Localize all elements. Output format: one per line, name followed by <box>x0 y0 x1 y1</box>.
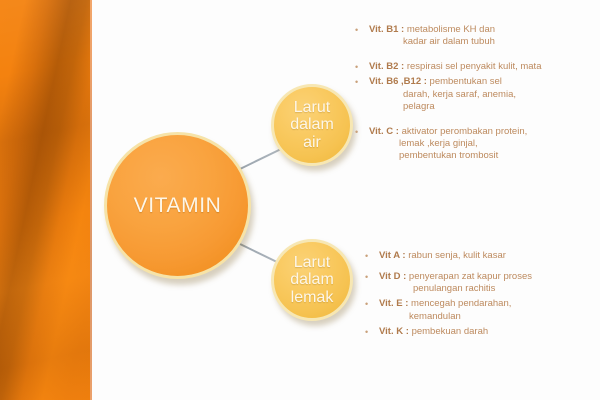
connector-root-to-lemak <box>240 243 280 264</box>
list-item-cont: kemandulan <box>379 311 596 323</box>
branch-air-line-3: air <box>303 134 321 151</box>
spacer <box>352 113 596 126</box>
band-streak-overlay <box>0 0 92 400</box>
list-item-head: Vit. B1 : <box>369 24 404 35</box>
list-item-body: Vit. C : aktivator perombakan protein, l… <box>369 126 596 162</box>
band-right-edge <box>90 0 92 400</box>
fat-soluble-vitamin-list: • Vit A : rabun senja, kulit kasar • Vit… <box>362 250 596 338</box>
bullet-icon: • <box>362 298 379 310</box>
list-item-body: Vit A : rabun senja, kulit kasar <box>379 250 596 262</box>
bullet-icon: • <box>352 24 369 36</box>
bullet-icon: • <box>362 271 379 283</box>
list-item-head: Vit. K : <box>379 326 409 337</box>
bullet-icon: • <box>352 76 369 88</box>
branch-lemak-line-1: Larut <box>294 254 330 271</box>
left-orange-band <box>0 0 92 400</box>
list-item: • Vit A : rabun senja, kulit kasar <box>362 250 596 262</box>
slide-canvas: VITAMIN Larut dalam air Larut dalam lema… <box>0 0 600 400</box>
branch-air-label: Larut dalam air <box>290 99 334 151</box>
bullet-icon: • <box>362 326 379 338</box>
list-item: • Vit. B1 : metabolisme KH dan kadar air… <box>352 24 596 48</box>
bullet-icon: • <box>352 126 369 138</box>
list-item-cont: pelagra <box>369 101 596 113</box>
list-item-body: Vit. K : pembekuan darah <box>379 326 596 338</box>
root-node-vitamin[interactable]: VITAMIN <box>104 132 251 279</box>
spacer <box>352 48 596 61</box>
list-item: • Vit. C : aktivator perombakan protein,… <box>352 126 596 162</box>
branch-lemak-label: Larut dalam lemak <box>290 254 334 306</box>
list-item-head: Vit A : <box>379 250 406 261</box>
list-item-body: Vit. B2 : respirasi sel penyakit kulit, … <box>369 61 596 73</box>
list-item-text: rabun senja, kulit kasar <box>408 250 506 261</box>
list-item-cont: kadar air dalam tubuh <box>369 36 596 48</box>
list-item: • Vit D : penyerapan zat kapur proses pe… <box>362 271 596 295</box>
list-item-cont: pembentukan trombosit <box>369 150 596 162</box>
list-item-head: Vit. B6 ,B12 : <box>369 76 427 87</box>
branch-node-larut-dalam-lemak[interactable]: Larut dalam lemak <box>271 239 353 321</box>
list-item-body: Vit. B1 : metabolisme KH dan kadar air d… <box>369 24 596 48</box>
list-item-body: Vit D : penyerapan zat kapur proses penu… <box>379 271 596 295</box>
list-item: • Vit. K : pembekuan darah <box>362 326 596 338</box>
list-item-text: pembekuan darah <box>412 326 489 337</box>
branch-node-larut-dalam-air[interactable]: Larut dalam air <box>271 84 353 166</box>
list-item: • Vit. B2 : respirasi sel penyakit kulit… <box>352 61 596 73</box>
list-item-body: Vit. E : mencegah pendarahan, kemandulan <box>379 298 596 322</box>
connector-root-to-air <box>240 149 280 170</box>
list-item-text: pembentukan sel <box>430 76 502 87</box>
list-item-cont: darah, kerja saraf, anemia, <box>369 89 596 101</box>
list-item-text: metabolisme KH dan <box>407 24 495 35</box>
branch-air-line-2: dalam <box>290 116 334 133</box>
list-item-head: Vit. E : <box>379 298 408 309</box>
list-item-head: Vit D : <box>379 271 406 282</box>
list-item-cont: lemak ,kerja ginjal, <box>369 138 596 150</box>
branch-air-line-1: Larut <box>294 99 330 116</box>
list-item-body: Vit. B6 ,B12 : pembentukan sel darah, ke… <box>369 76 596 112</box>
list-item-head: Vit. B2 : <box>369 61 404 72</box>
list-item-head: Vit. C : <box>369 126 399 137</box>
list-item-text: mencegah pendarahan, <box>411 298 511 309</box>
list-item-text: penyerapan zat kapur proses <box>409 271 532 282</box>
bullet-icon: • <box>362 250 379 262</box>
list-item-text: aktivator perombakan protein, <box>402 126 528 137</box>
spacer <box>362 262 596 271</box>
list-item: • Vit. E : mencegah pendarahan, kemandul… <box>362 298 596 322</box>
bullet-icon: • <box>352 61 369 73</box>
list-item-cont: penulangan rachitis <box>379 283 596 295</box>
root-node-label: VITAMIN <box>134 194 222 218</box>
list-item-text: respirasi sel penyakit kulit, mata <box>407 61 542 72</box>
branch-lemak-line-3: lemak <box>291 289 334 306</box>
list-item: • Vit. B6 ,B12 : pembentukan sel darah, … <box>352 76 596 112</box>
branch-lemak-line-2: dalam <box>290 271 334 288</box>
water-soluble-vitamin-list: • Vit. B1 : metabolisme KH dan kadar air… <box>352 24 596 162</box>
